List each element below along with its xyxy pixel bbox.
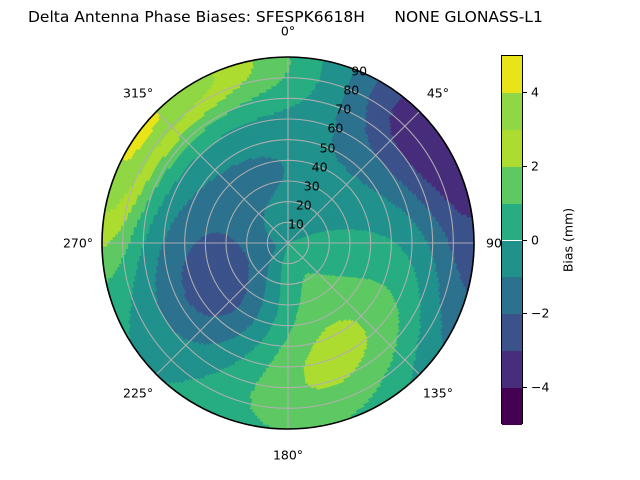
- colorbar-tick-4: [523, 387, 527, 388]
- colorbar-band-7: [502, 130, 522, 167]
- colorbar-tick-label-2: 0: [531, 232, 539, 247]
- colorbar-tick-1: [523, 166, 527, 167]
- colorbar-tick-label-4: −4: [531, 380, 549, 395]
- colorbar-tick-label-1: 2: [531, 158, 539, 173]
- colorbar-band-0: [502, 388, 522, 425]
- colorbar-band-4: [502, 241, 522, 278]
- colorbar-tick-3: [523, 313, 527, 314]
- colorbar-band-3: [502, 277, 522, 314]
- colorbar-band-6: [502, 167, 522, 204]
- colorbar-band-1: [502, 351, 522, 388]
- colorbar-axis-label: Bias (mm): [561, 207, 576, 271]
- colorbar-band-9: [502, 56, 522, 93]
- figure-canvas: Delta Antenna Phase Biases: SFESPK6618H …: [0, 0, 640, 480]
- polar-contour-plot: [0, 0, 640, 480]
- colorbar-tick-0: [523, 92, 527, 93]
- colorbar: 420−2−4Bias (mm): [501, 55, 523, 424]
- colorbar-band-2: [502, 314, 522, 351]
- colorbar-gradient: [501, 55, 523, 424]
- colorbar-tick-label-3: −2: [531, 306, 549, 321]
- colorbar-tick-label-0: 4: [531, 84, 539, 99]
- colorbar-band-8: [502, 93, 522, 130]
- colorbar-tick-2: [523, 240, 527, 241]
- colorbar-band-5: [502, 204, 522, 241]
